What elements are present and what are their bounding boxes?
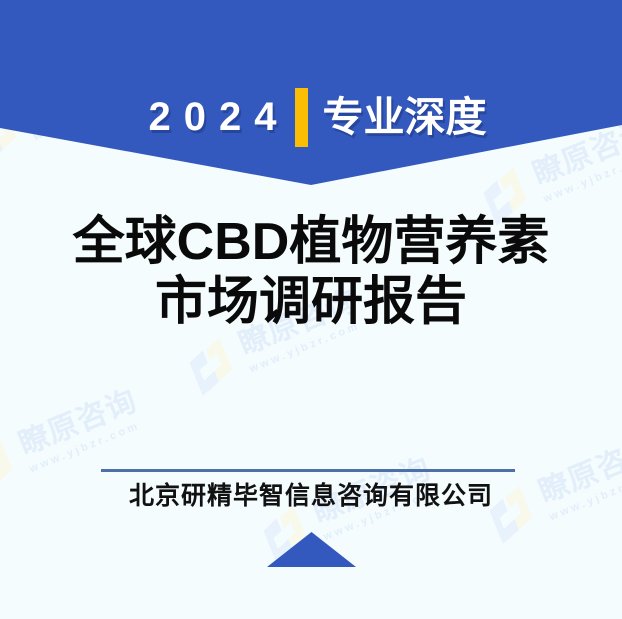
watermark-text: 瞭原咨询 [15,386,141,460]
up-triangle-ornament [267,532,356,568]
page-title-line-2: 市场调研报告 [0,272,622,332]
liaoyuan-logo-watermark [176,332,246,402]
page-title: 全球CBD植物营养素 市场调研报告 [0,212,622,333]
page-title-line-1: 全球CBD植物营养素 [0,212,622,272]
watermark-url: www.yjbzr.com [28,418,147,475]
report-year: 2024 [136,97,290,137]
publisher-name: 北京研精毕智信息咨询有限公司 [0,481,622,511]
report-cover-page: 瞭原咨询www.yjbzr.com 瞭原咨询www.yjbzr.com 瞭原咨询… [0,0,622,619]
horizontal-divider [101,469,515,472]
header-text-row: 2024 专业深度 [0,84,622,150]
accent-bar [295,88,308,147]
header-tagline: 专业深度 [322,97,486,138]
